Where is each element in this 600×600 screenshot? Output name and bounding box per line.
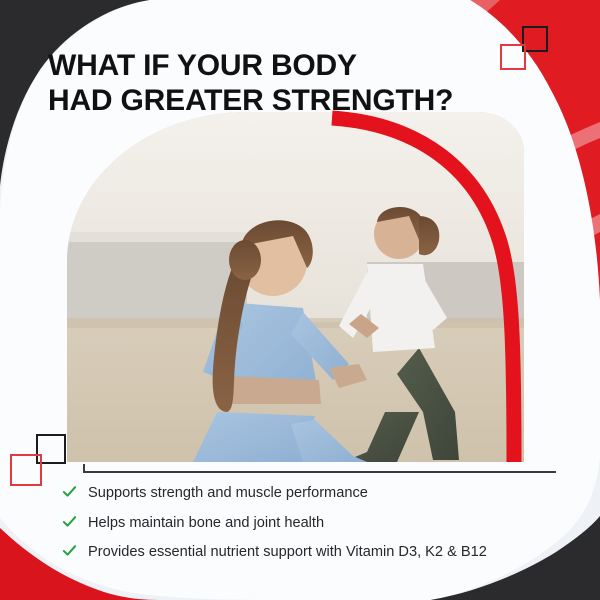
benefit-text: Helps maintain bone and joint health <box>88 515 324 533</box>
square-motif-top <box>500 26 548 70</box>
red-square-outline-icon <box>10 454 42 486</box>
benefit-text: Supports strength and muscle performance <box>88 485 368 503</box>
list-item: Helps maintain bone and joint health <box>62 512 582 533</box>
red-square-outline-icon <box>500 44 526 70</box>
benefits-list: Supports strength and muscle performance… <box>62 482 582 571</box>
page-title: WHAT IF YOUR BODY HAD GREATER STRENGTH? <box>48 48 488 118</box>
check-icon <box>62 484 77 499</box>
list-item: Supports strength and muscle performance <box>62 482 582 503</box>
headline-line-1: WHAT IF YOUR BODY <box>48 49 357 82</box>
headline-line-2: HAD GREATER STRENGTH? <box>48 83 488 118</box>
check-icon <box>62 514 77 529</box>
marketing-poster: WHAT IF YOUR BODY HAD GREATER STRENGTH? <box>0 0 600 600</box>
square-motif-bottom <box>10 434 66 486</box>
bracket-path <box>84 464 556 472</box>
check-icon <box>62 543 77 558</box>
benefit-text: Provides essential nutrient support with… <box>88 544 487 562</box>
list-item: Provides essential nutrient support with… <box>62 541 582 562</box>
